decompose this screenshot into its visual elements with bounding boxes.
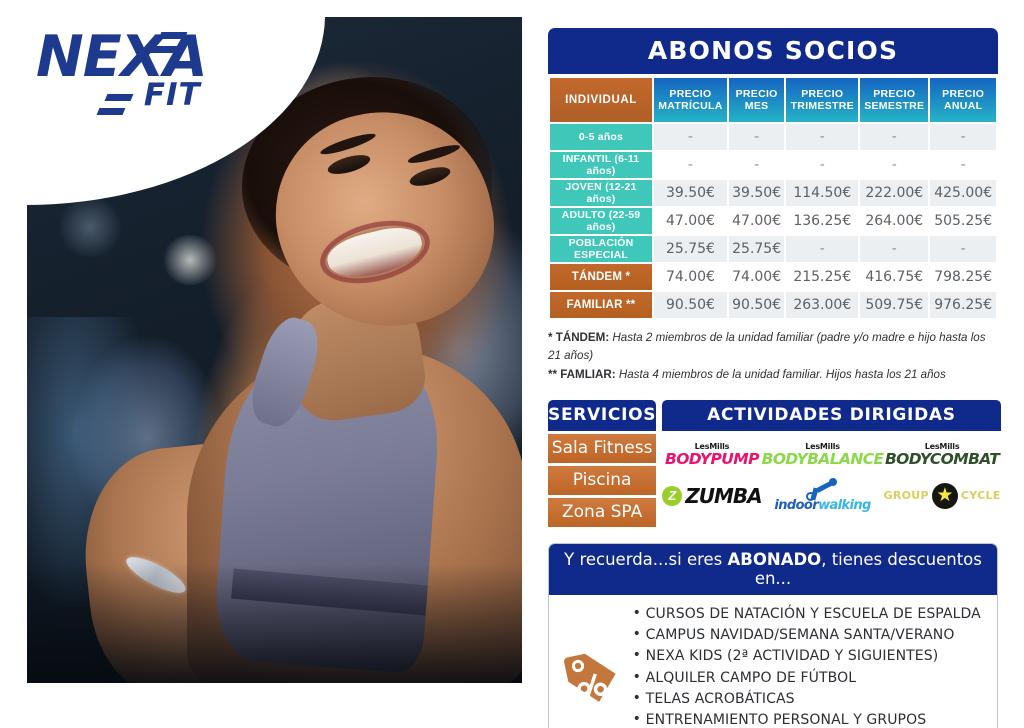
discounts-box: Y recuerda...si eres ABONADO, tienes des…	[548, 543, 998, 728]
price-cell: 264.00€	[860, 208, 928, 234]
logo-group-cycle: GROUP ★ CYCLE	[884, 483, 1001, 509]
row-label: ADULTO (22-59 años)	[550, 208, 652, 234]
col-line2: MATRÍCULA	[654, 100, 727, 112]
logo-indoorwalking: indoorwalking	[774, 478, 870, 513]
bodybalance-name: BODYBALANCE	[762, 452, 884, 468]
list-item: ENTRENAMIENTO PERSONAL Y GRUPOS REDUCIDO…	[633, 710, 997, 728]
price-cell: 39.50€	[654, 180, 727, 206]
table-header-row: INDIVIDUAL PRECIO MATRÍCULA PRECIO MES P…	[550, 78, 996, 122]
group-cycle-part-b: CYCLE	[961, 489, 1001, 502]
percent-tag-icon	[549, 647, 633, 709]
logo-bodypump: LesMills BODYPUMP	[665, 443, 759, 468]
price-cell: 90.50€	[654, 292, 727, 318]
price-cell: -	[860, 236, 928, 262]
service-item-piscina[interactable]: Piscina	[548, 466, 656, 495]
col-line1: PRECIO	[930, 88, 996, 100]
table-row: POBLACIÓN ESPECIAL 25.75€ 25.75€ - - -	[550, 236, 996, 262]
table-row: INFANTIL (6-11 años) - - - - -	[550, 152, 996, 178]
services-block: SERVICIOS Sala Fitness Piscina Zona SPA	[548, 400, 656, 527]
activities-block: ACTIVIDADES DIRIGIDAS LesMills BODYPUMP …	[662, 400, 1000, 527]
flyer-page: NEXA FIT ABONOS SOCIOS INDIVIDUAL PRECIO…	[0, 0, 1024, 728]
price-cell: -	[729, 152, 785, 178]
price-cell: -	[930, 152, 996, 178]
footnote-text: Hasta 4 miembros de la unidad familiar. …	[616, 368, 946, 381]
footnote-familiar: ** FAMLIAR: Hasta 4 miembros de la unida…	[548, 366, 998, 384]
pricing-footnotes: * TÁNDEM: Hasta 2 miembros de la unidad …	[548, 329, 998, 384]
price-cell: 74.00€	[729, 264, 785, 290]
discounts-list: CURSOS DE NATACIÓN Y ESCUELA DE ESPALDA …	[633, 604, 997, 728]
price-cell: -	[729, 124, 785, 150]
col-line1: PRECIO	[860, 88, 928, 100]
col-line2: TRIMESTRE	[786, 100, 858, 112]
logo-slash-icon	[151, 46, 180, 53]
price-cell: -	[786, 152, 858, 178]
logo-zumba: Z ZUMBA	[662, 484, 761, 508]
zumba-name: ZUMBA	[685, 484, 761, 508]
pricing-title: ABONOS SOCIOS	[548, 28, 998, 74]
price-cell: 25.75€	[729, 236, 785, 262]
list-item: NEXA KIDS (2ª ACTIVIDAD Y SIGUIENTES)	[633, 646, 997, 667]
price-cell: 25.75€	[654, 236, 727, 262]
col-line2: MES	[729, 100, 785, 112]
photo-bokeh	[57, 197, 123, 257]
zumba-icon: Z	[662, 486, 682, 506]
brand-logo: NEXA FIT	[36, 30, 207, 111]
column-header-anual: PRECIO ANUAL	[930, 78, 996, 122]
row-label: POBLACIÓN ESPECIAL	[550, 236, 652, 262]
logo-bodycombat: LesMills BODYCOMBAT	[885, 443, 999, 468]
list-item: CAMPUS NAVIDAD/SEMANA SANTA/VERANO	[633, 625, 997, 646]
table-row: 0-5 años - - - - -	[550, 124, 996, 150]
logo-slash-icon	[159, 32, 188, 39]
col-line2: ANUAL	[930, 100, 996, 112]
price-cell: 222.00€	[860, 180, 928, 206]
list-item: CURSOS DE NATACIÓN Y ESCUELA DE ESPALDA	[633, 604, 997, 625]
right-column: ABONOS SOCIOS INDIVIDUAL PRECIO MATRÍCUL…	[548, 28, 998, 728]
service-item-zona-spa[interactable]: Zona SPA	[548, 498, 656, 527]
row-label: FAMILIAR **	[550, 292, 652, 318]
table-row: JOVEN (12-21 años) 39.50€ 39.50€ 114.50€…	[550, 180, 996, 206]
price-cell: 39.50€	[729, 180, 785, 206]
price-cell: -	[930, 236, 996, 262]
price-cell: 47.00€	[729, 208, 785, 234]
col-line1: PRECIO	[786, 88, 858, 100]
price-cell: 263.00€	[786, 292, 858, 318]
photo-bokeh	[162, 235, 218, 285]
discounts-title: Y recuerda...si eres ABONADO, tienes des…	[549, 544, 997, 595]
column-header-mes: PRECIO MES	[729, 78, 785, 122]
logo-bodybalance: LesMills BODYBALANCE	[762, 443, 884, 468]
price-cell: -	[786, 124, 858, 150]
footnote-text: Hasta 2 miembros de la unidad familiar (…	[548, 331, 986, 362]
row-label: JOVEN (12-21 años)	[550, 180, 652, 206]
logo-slash-icon	[97, 108, 126, 115]
price-cell: 47.00€	[654, 208, 727, 234]
col-line1: PRECIO	[729, 88, 785, 100]
price-cell: 114.50€	[786, 180, 858, 206]
table-row: TÁNDEM * 74.00€ 74.00€ 215.25€ 416.75€ 7…	[550, 264, 996, 290]
price-cell: 90.50€	[729, 292, 785, 318]
list-item: ALQUILER CAMPO DE FÚTBOL	[633, 668, 997, 689]
col-line1: PRECIO	[654, 88, 727, 100]
pricing-table: INDIVIDUAL PRECIO MATRÍCULA PRECIO MES P…	[548, 76, 998, 320]
col-line2: SEMESTRE	[860, 100, 928, 112]
footnote-tandem: * TÁNDEM: Hasta 2 miembros de la unidad …	[548, 329, 998, 366]
star-icon: ★	[932, 483, 958, 509]
price-cell: -	[860, 124, 928, 150]
services-activities-section: SERVICIOS Sala Fitness Piscina Zona SPA …	[548, 400, 998, 527]
price-cell: -	[654, 152, 727, 178]
row-label: INFANTIL (6-11 años)	[550, 152, 652, 178]
indoorwalking-name: indoorwalking	[774, 498, 870, 513]
table-row: ADULTO (22-59 años) 47.00€ 47.00€ 136.25…	[550, 208, 996, 234]
group-cycle-part-a: GROUP	[884, 489, 929, 502]
photo-vignette	[27, 563, 522, 683]
price-cell: -	[930, 124, 996, 150]
price-cell: -	[786, 236, 858, 262]
price-cell: -	[654, 124, 727, 150]
logo-slash-icon	[105, 94, 134, 101]
walking-machine-icon	[802, 478, 844, 498]
price-cell: 215.25€	[786, 264, 858, 290]
column-header-matricula: PRECIO MATRÍCULA	[654, 78, 727, 122]
service-item-sala-fitness[interactable]: Sala Fitness	[548, 434, 656, 463]
column-header-semestre: PRECIO SEMESTRE	[860, 78, 928, 122]
row-label: 0-5 años	[550, 124, 652, 150]
price-cell: 425.00€	[930, 180, 996, 206]
hero-photo	[27, 17, 522, 683]
price-cell: -	[860, 152, 928, 178]
price-cell: 74.00€	[654, 264, 727, 290]
bodypump-name: BODYPUMP	[665, 452, 759, 468]
price-cell: 416.75€	[860, 264, 928, 290]
price-cell: 798.25€	[930, 264, 996, 290]
activities-title: ACTIVIDADES DIRIGIDAS	[662, 400, 1000, 431]
footnote-marker: * TÁNDEM:	[548, 331, 609, 344]
column-header-individual: INDIVIDUAL	[550, 78, 652, 122]
footnote-marker: ** FAMLIAR:	[548, 368, 616, 381]
activities-logo-grid: LesMills BODYPUMP LesMills BODYBALANCE L…	[662, 435, 1000, 517]
bodycombat-name: BODYCOMBAT	[885, 452, 999, 468]
discounts-body: CURSOS DE NATACIÓN Y ESCUELA DE ESPALDA …	[549, 595, 997, 728]
table-row: FAMILIAR ** 90.50€ 90.50€ 263.00€ 509.75…	[550, 292, 996, 318]
price-cell: 505.25€	[930, 208, 996, 234]
discounts-title-a: Y recuerda...si eres	[564, 550, 727, 569]
services-title: SERVICIOS	[548, 400, 656, 431]
row-label: TÁNDEM *	[550, 264, 652, 290]
discounts-title-highlight: ABONADO	[728, 550, 822, 569]
price-cell: 509.75€	[860, 292, 928, 318]
indoorwalking-part-b: walking	[818, 498, 871, 513]
column-header-trimestre: PRECIO TRIMESTRE	[786, 78, 858, 122]
list-item: TELAS ACROBÁTICAS	[633, 689, 997, 710]
price-cell: 976.25€	[930, 292, 996, 318]
price-cell: 136.25€	[786, 208, 858, 234]
